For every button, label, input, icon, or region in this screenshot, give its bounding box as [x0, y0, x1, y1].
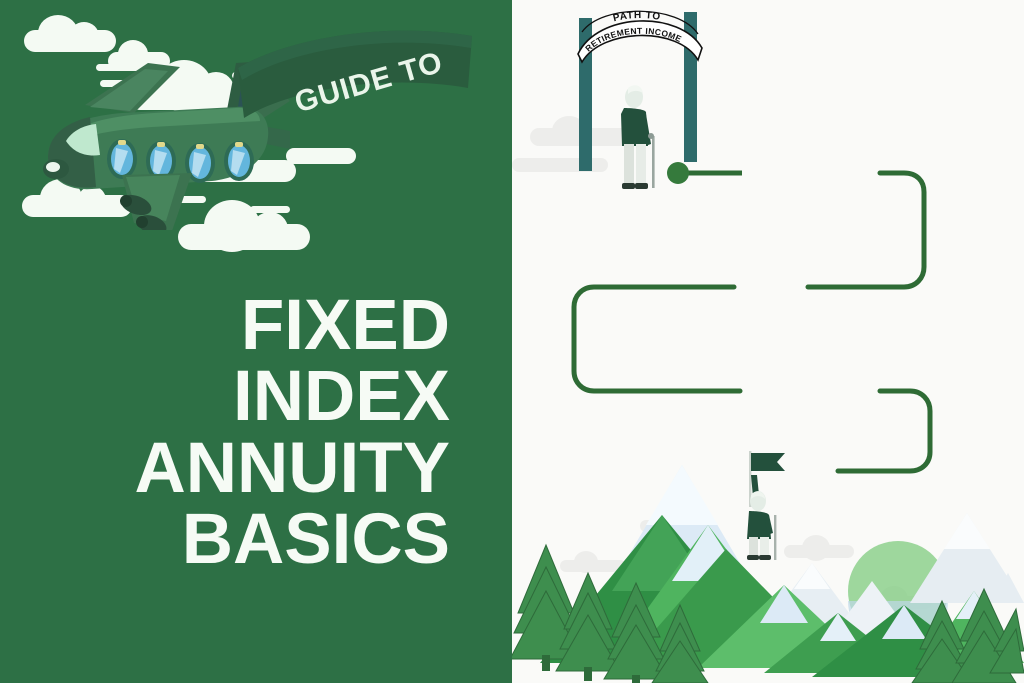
guide-to-banner: GUIDE TO: [232, 20, 482, 140]
title-line-3: ANNUITY: [0, 435, 450, 502]
title-line-4: BASICS: [0, 506, 450, 573]
left-panel: GUIDE TO FIXED INDEX ANNUITY BASICS: [0, 0, 512, 683]
right-panel: PATH TO RETIREMENT INCOME: [512, 0, 1024, 683]
start-node-dot: [667, 162, 689, 184]
poster-canvas: GUIDE TO FIXED INDEX ANNUITY BASICS: [0, 0, 1024, 683]
title-line-2: INDEX: [0, 363, 450, 430]
page-title: FIXED INDEX ANNUITY BASICS: [0, 292, 512, 578]
summit-hiker-figure: [727, 445, 797, 560]
speed-streak: [188, 232, 216, 239]
cloud-shape: [286, 148, 356, 164]
title-line-1: FIXED: [0, 292, 450, 359]
